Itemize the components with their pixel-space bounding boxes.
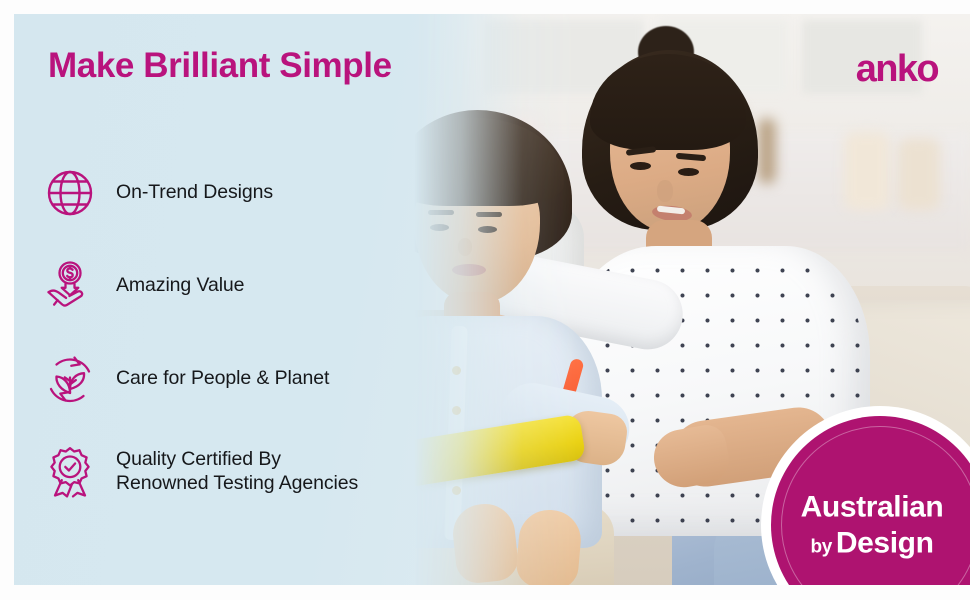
content-panel: Make Brilliant Simple anko On-Trend Desi… bbox=[14, 14, 970, 585]
woman-nose bbox=[657, 180, 673, 202]
boy-eye bbox=[478, 226, 497, 233]
feature-item-care-for-people-and-planet: Care for People & Planet bbox=[38, 332, 468, 425]
feature-item-amazing-value: Amazing Value bbox=[38, 239, 468, 332]
feature-item-quality-certified: Quality Certified ByRenowned Testing Age… bbox=[38, 425, 468, 518]
quality-rosette-icon bbox=[38, 442, 102, 502]
recycle-leaf-icon bbox=[38, 349, 102, 409]
feature-item-on-trend-designs: On-Trend Designs bbox=[38, 146, 468, 239]
counter-object bbox=[898, 138, 940, 210]
globe-icon bbox=[38, 163, 102, 223]
feature-label: Quality Certified ByRenowned Testing Age… bbox=[116, 448, 358, 496]
badge-line-1: Australian bbox=[761, 490, 970, 524]
badge-design-word: Design bbox=[836, 526, 934, 559]
feature-label: Amazing Value bbox=[116, 274, 244, 298]
feature-list: On-Trend Designs Amazing Value bbox=[38, 146, 468, 518]
feature-label: On-Trend Designs bbox=[116, 181, 273, 205]
anko-logo: anko bbox=[856, 50, 938, 88]
badge-line-2: byDesign bbox=[761, 526, 970, 560]
feature-label: Care for People & Planet bbox=[116, 367, 329, 391]
promo-banner: Make Brilliant Simple anko On-Trend Desi… bbox=[0, 0, 970, 600]
badge-text: Australian byDesign bbox=[761, 490, 970, 559]
hand-coin-icon bbox=[38, 256, 102, 316]
page-title: Make Brilliant Simple bbox=[48, 46, 392, 86]
woman-eye bbox=[678, 168, 699, 176]
feature-label-line-1: Quality Certified By bbox=[116, 448, 281, 470]
counter-object bbox=[758, 118, 776, 184]
boy-eyebrow bbox=[476, 212, 502, 217]
woman-eye bbox=[630, 162, 651, 170]
counter-object bbox=[844, 132, 890, 210]
feature-label-line-2: Renowned Testing Agencies bbox=[116, 472, 358, 494]
badge-by-word: by bbox=[811, 536, 832, 557]
